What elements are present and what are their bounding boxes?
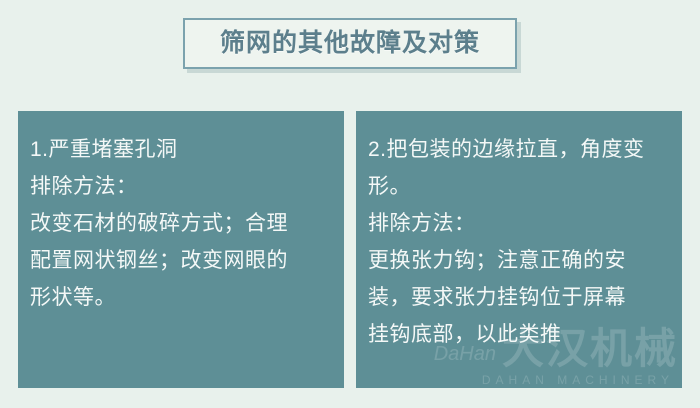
panel-fault-1-line-1: 1.严重堵塞孔洞 (30, 131, 332, 168)
panel-fault-1-line-4: 配置网状钢丝；改变网眼的 (30, 242, 332, 279)
panel-fault-1: 1.严重堵塞孔洞 排除方法： 改变石材的破碎方式；合理 配置网状钢丝；改变网眼的… (18, 111, 344, 388)
panel-fault-2-body: 2.把包装的边缘拉直，角度变 形。 排除方法： 更换张力钩；注意正确的安 装，要… (356, 111, 682, 353)
page-title: 筛网的其他故障及对策 (220, 31, 480, 56)
panel-fault-2-line-2: 形。 (368, 168, 670, 205)
panel-fault-1-line-5: 形状等。 (30, 279, 332, 316)
panel-fault-2-line-4: 更换张力钩；注意正确的安 (368, 242, 670, 279)
panel-fault-2-line-3: 排除方法： (368, 205, 670, 242)
page-title-container: 筛网的其他故障及对策 (0, 18, 700, 69)
panel-fault-1-line-3: 改变石材的破碎方式；合理 (30, 205, 332, 242)
panel-fault-1-line-2: 排除方法： (30, 168, 332, 205)
panel-fault-2: 2.把包装的边缘拉直，角度变 形。 排除方法： 更换张力钩；注意正确的安 装，要… (356, 111, 682, 388)
panel-fault-2-line-5: 装，要求张力挂钩位于屏幕 (368, 279, 670, 316)
panel-fault-2-line-1: 2.把包装的边缘拉直，角度变 (368, 131, 670, 168)
content-panels: 1.严重堵塞孔洞 排除方法： 改变石材的破碎方式；合理 配置网状钢丝；改变网眼的… (18, 111, 682, 388)
watermark-brand-en: DAHAN MACHINERY (482, 374, 674, 386)
panel-fault-2-line-6: 挂钩底部，以此类推 (368, 316, 670, 353)
panel-fault-1-body: 1.严重堵塞孔洞 排除方法： 改变石材的破碎方式；合理 配置网状钢丝；改变网眼的… (18, 111, 344, 316)
page-title-box: 筛网的其他故障及对策 (183, 18, 517, 69)
